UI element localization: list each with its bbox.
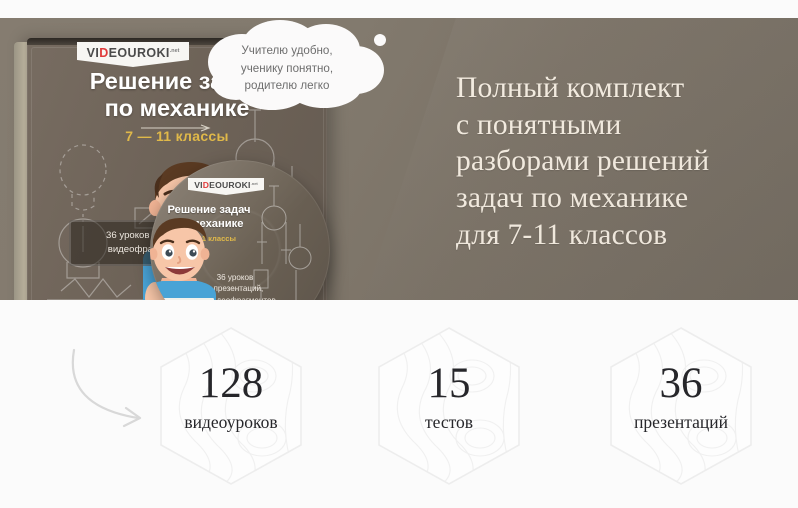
headline: Полный комплект с понятными разборами ре… <box>456 70 786 254</box>
hero-banner: Полный комплект с понятными разборами ре… <box>0 18 798 300</box>
boy-with-books-illustration-disc <box>150 208 242 300</box>
headline-line-2: с понятными <box>456 107 786 144</box>
stat-number: 15 <box>376 362 522 405</box>
logo-tld-case: .net <box>170 48 180 54</box>
logo-tld-disc: .net <box>251 181 258 186</box>
stat-label: презентаций <box>608 412 754 433</box>
stat-hexagon-tests: 15 тестов <box>376 326 522 486</box>
stat-hexagon-videolessons: 128 видеоуроков <box>158 326 304 486</box>
logo-part1-disc: VI <box>194 180 203 190</box>
thought-bubble-line-1: Учителю удобно, <box>196 42 378 60</box>
stat-label: видеоуроков <box>158 412 304 433</box>
thought-bubble: Учителю удобно, ученику понятно, родител… <box>196 20 396 116</box>
stat-hexagon-presentations: 36 презентаций <box>608 326 754 486</box>
thought-bubble-line-2: ученику понятно, <box>196 60 378 78</box>
headline-line-5: для 7-11 классов <box>456 217 786 254</box>
logo-part2-disc: EOUROKI <box>209 180 251 190</box>
logo-accent-case: D <box>99 46 108 60</box>
headline-line-1: Полный комплект <box>456 70 786 107</box>
stat-label: тестов <box>376 412 522 433</box>
promo-banner-page: Полный комплект с понятными разборами ре… <box>0 0 798 508</box>
dvd-disc: VIDEOUROKI.net Решение задач по механике… <box>150 160 330 300</box>
dvd-case-grade: 7 — 11 классы <box>27 128 327 144</box>
headline-line-3: разборами решений <box>456 143 786 180</box>
stat-number: 128 <box>158 362 304 405</box>
thought-bubble-text: Учителю удобно, ученику понятно, родител… <box>196 42 378 95</box>
headline-line-4: задач по механике <box>456 180 786 217</box>
thought-bubble-line-3: родителю легко <box>196 77 378 95</box>
stat-number: 36 <box>608 362 754 405</box>
logo-part1-case: VI <box>87 46 100 60</box>
logo-part2-case: EOUROKI <box>109 46 170 60</box>
